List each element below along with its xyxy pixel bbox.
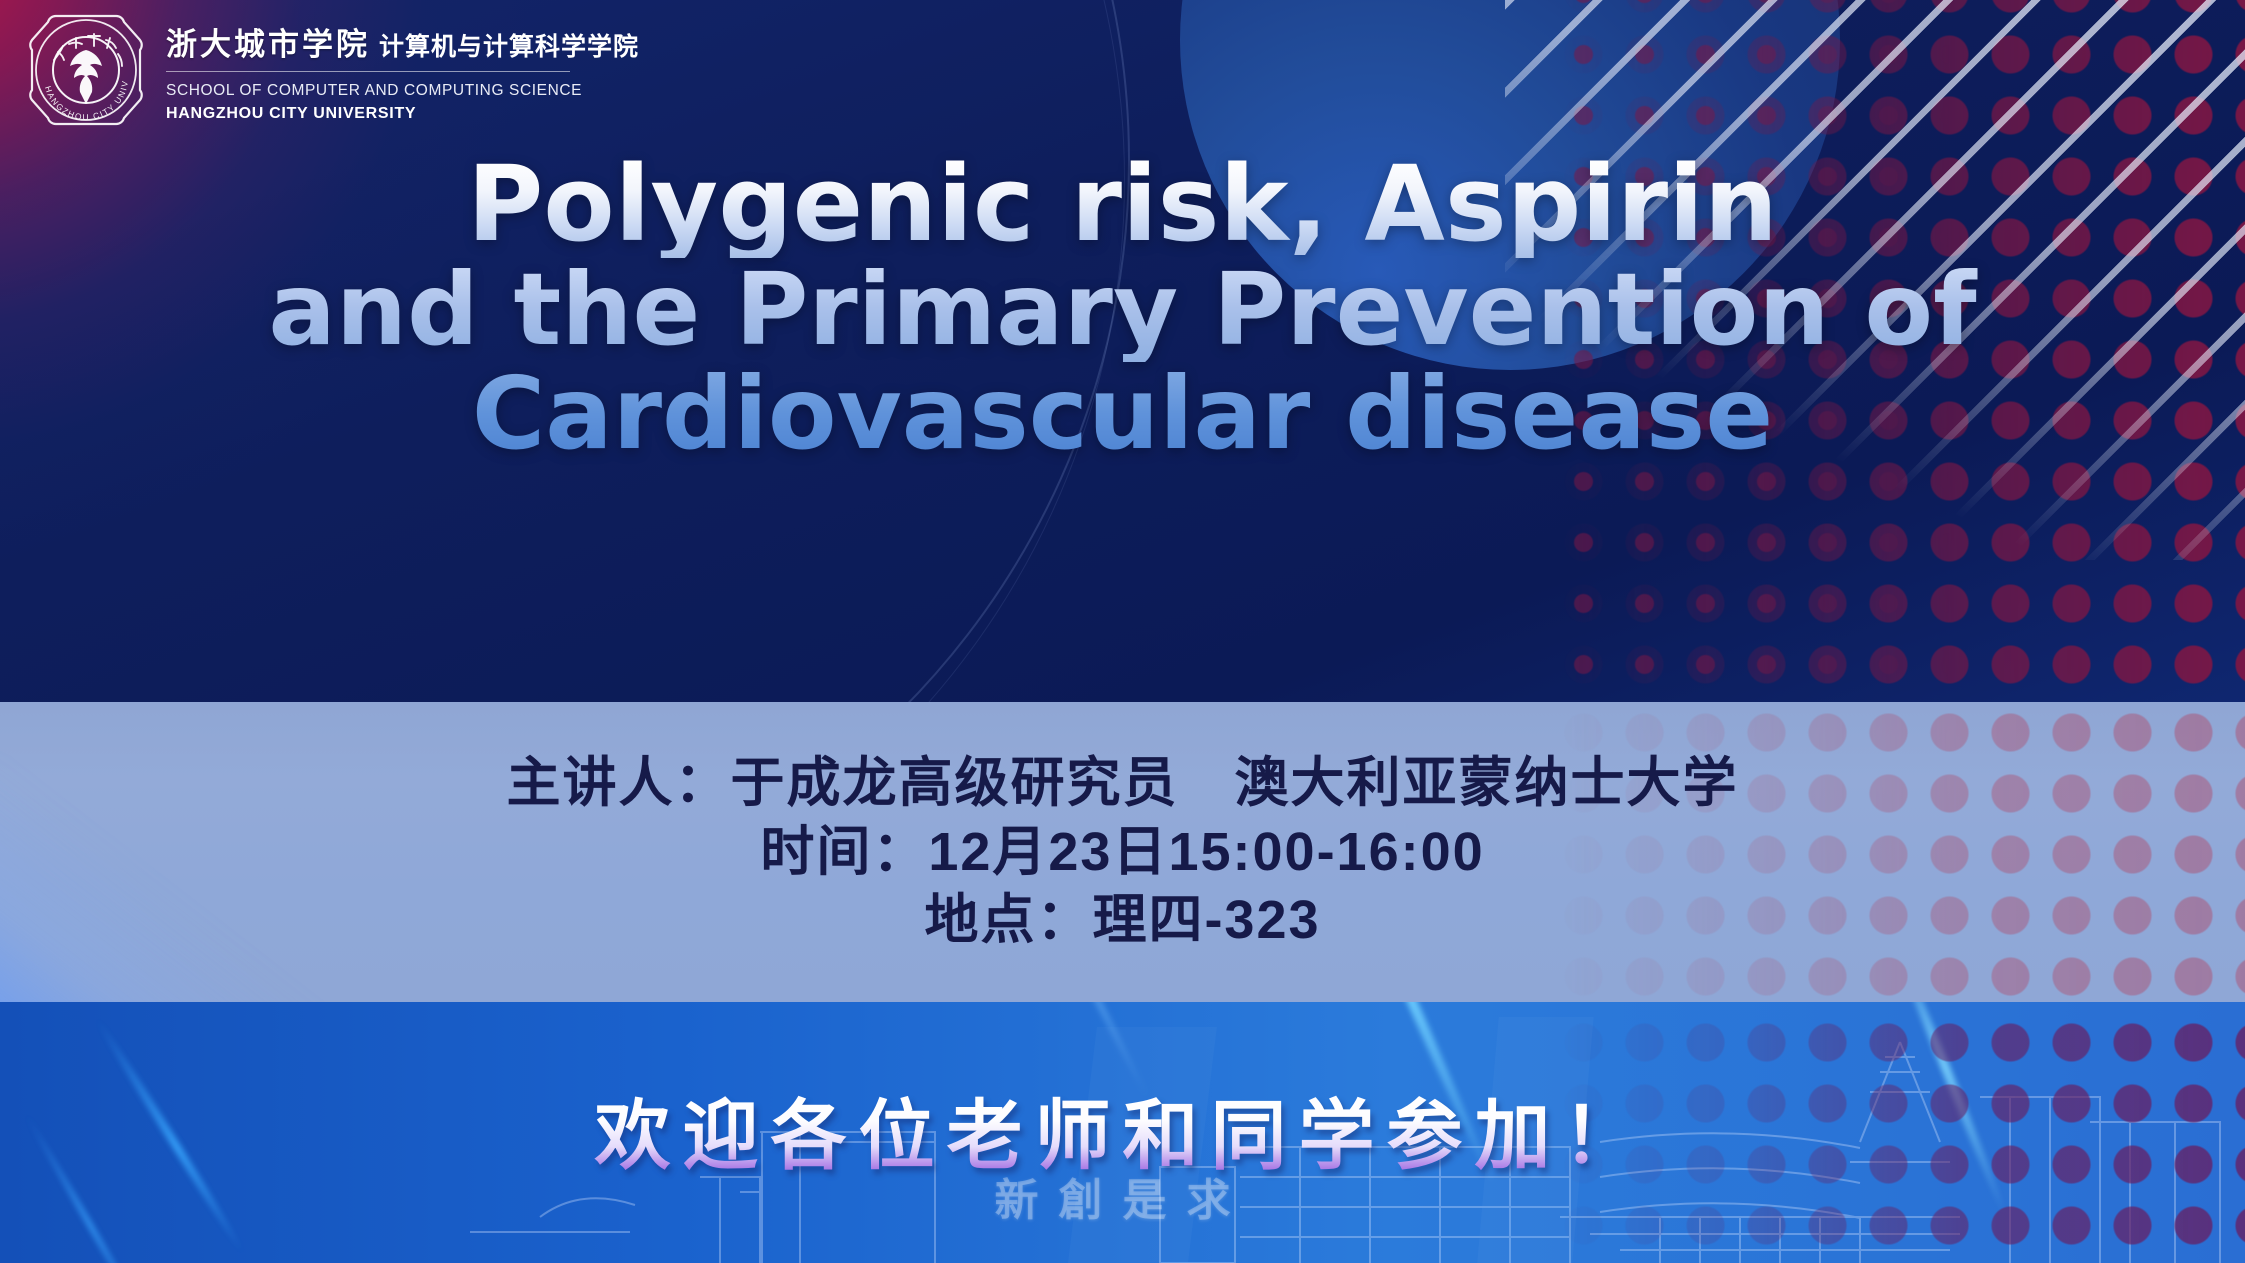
title-line-3: Cardiovascular disease	[0, 362, 2245, 466]
brand-divider	[166, 71, 570, 72]
title-line-1: Polygenic risk, Aspirin	[0, 150, 2245, 258]
title-line-2: and the Primary Prevention of	[0, 258, 2245, 362]
school-name-en: SCHOOL OF COMPUTER AND COMPUTING SCIENCE	[166, 80, 639, 102]
band-dot-pattern	[1545, 702, 2245, 1002]
brand-text: 浙大城市学院 计算机与计算科学学院 SCHOOL OF COMPUTER AND…	[166, 15, 639, 126]
time-line: 时间：12月23日15:00-16:00	[760, 820, 1484, 885]
footer-section: 新創是求 欢迎各位老师和同学参加！	[0, 1002, 2245, 1263]
brand-header: HANGZHOU CITY UNIVERSITY 浙大城市学院 计算机与计算科学…	[24, 8, 639, 132]
school-name-cn: 计算机与计算科学学院	[379, 27, 639, 63]
location-line: 地点：理四-323	[924, 888, 1320, 953]
university-crest-icon: HANGZHOU CITY UNIVERSITY	[24, 8, 148, 132]
speaker-line: 主讲人：于成龙高级研究员 澳大利亚蒙纳士大学	[507, 751, 1739, 816]
brand-chinese-line: 浙大城市学院 计算机与计算科学学院	[166, 19, 639, 64]
svg-text:HANGZHOU CITY UNIVERSITY: HANGZHOU CITY UNIVERSITY	[24, 8, 130, 122]
welcome-message: 欢迎各位老师和同学参加！	[0, 1074, 2245, 1184]
university-name-cn: 浙大城市学院	[166, 19, 370, 64]
band-light-beam	[0, 762, 390, 1002]
event-info-band: 主讲人：于成龙高级研究员 澳大利亚蒙纳士大学 时间：12月23日15:00-16…	[0, 702, 2245, 1002]
seminar-poster: HANGZHOU CITY UNIVERSITY 浙大城市学院 计算机与计算科学…	[0, 0, 2245, 1263]
university-name-en: HANGZHOU CITY UNIVERSITY	[166, 102, 639, 125]
poster-title: Polygenic risk, Aspirin and the Primary …	[0, 150, 2245, 466]
